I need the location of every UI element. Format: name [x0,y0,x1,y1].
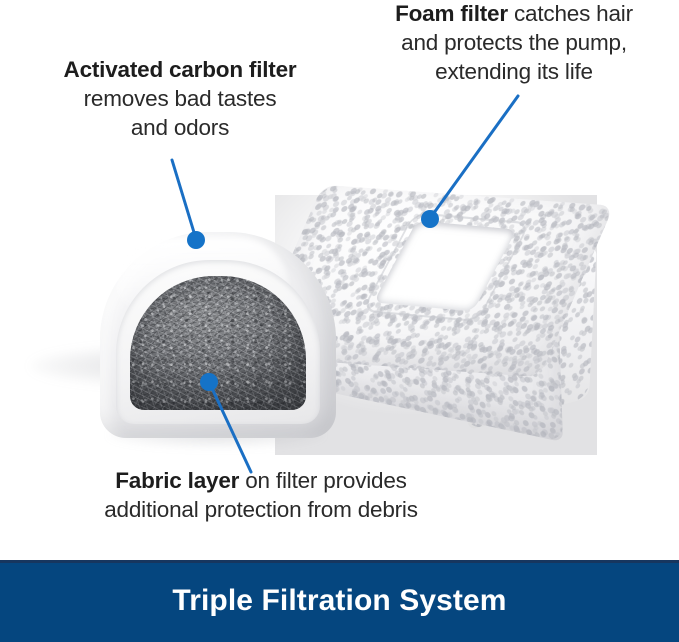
banner-title: Triple Filtration System [172,586,506,616]
carbon-fabric-layer [116,260,320,424]
callout-carbon-line-2: removes bad tastes [22,84,338,113]
product-photo-stage [0,150,679,470]
callout-fabric-bold: Fabric layer [115,468,239,493]
bottom-banner: Triple Filtration System [0,560,679,642]
carbon-filter-shell [100,232,336,438]
callout-carbon-bold: Activated carbon filter [64,57,297,82]
callout-foam-filter: Foam filter catches hair and protects th… [358,0,670,86]
carbon-filter-core [130,276,306,410]
callout-fabric-line-1: Fabric layer on filter provides [56,466,466,495]
callout-foam-line-2: and protects the pump, [358,28,670,57]
carbon-vignette [130,276,306,410]
banner-top-rule [0,560,679,563]
callout-foam-line-1: Foam filter catches hair [358,0,670,28]
callout-foam-bold: Foam filter [395,1,508,26]
callout-foam-line-3: extending its life [358,57,670,86]
infographic-root: Foam filter catches hair and protects th… [0,0,679,642]
callout-activated-carbon-filter: Activated carbon filter removes bad tast… [22,55,338,142]
callout-foam-line1-rest: catches hair [508,1,633,26]
callout-fabric-line-2: additional protection from debris [56,495,466,524]
callout-fabric-line1-rest: on filter provides [239,468,407,493]
callout-carbon-line-3: and odors [22,113,338,142]
callout-carbon-line-1: Activated carbon filter [22,55,338,84]
callout-fabric-layer: Fabric layer on filter provides addition… [56,466,466,524]
